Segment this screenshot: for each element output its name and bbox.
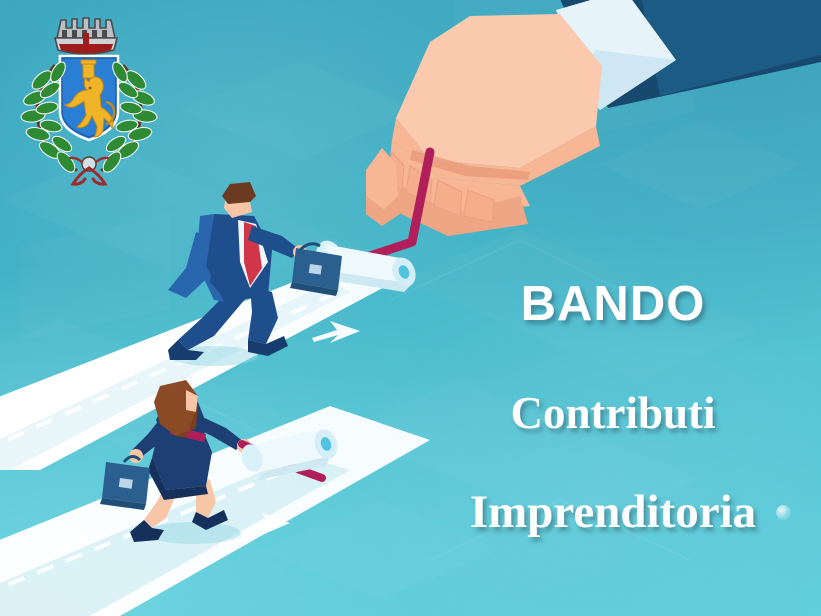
subtitle-2: Imprenditoria (418, 489, 808, 536)
businesswoman-figure (100, 380, 251, 542)
shield (60, 56, 118, 140)
poster-canvas: BANDO Contributi Imprenditoria (0, 0, 821, 616)
businessman-figure (168, 182, 342, 360)
paint-roller-lower (238, 426, 341, 480)
headline: BANDO (418, 280, 808, 329)
title-block: BANDO Contributi Imprenditoria (418, 280, 808, 536)
subtitle-1: Contributi (418, 391, 808, 436)
businesswoman-briefcase (100, 456, 150, 510)
coat-of-arms (14, 4, 164, 194)
mural-crown-icon (55, 18, 117, 54)
hand-holding-roller (366, 14, 602, 236)
